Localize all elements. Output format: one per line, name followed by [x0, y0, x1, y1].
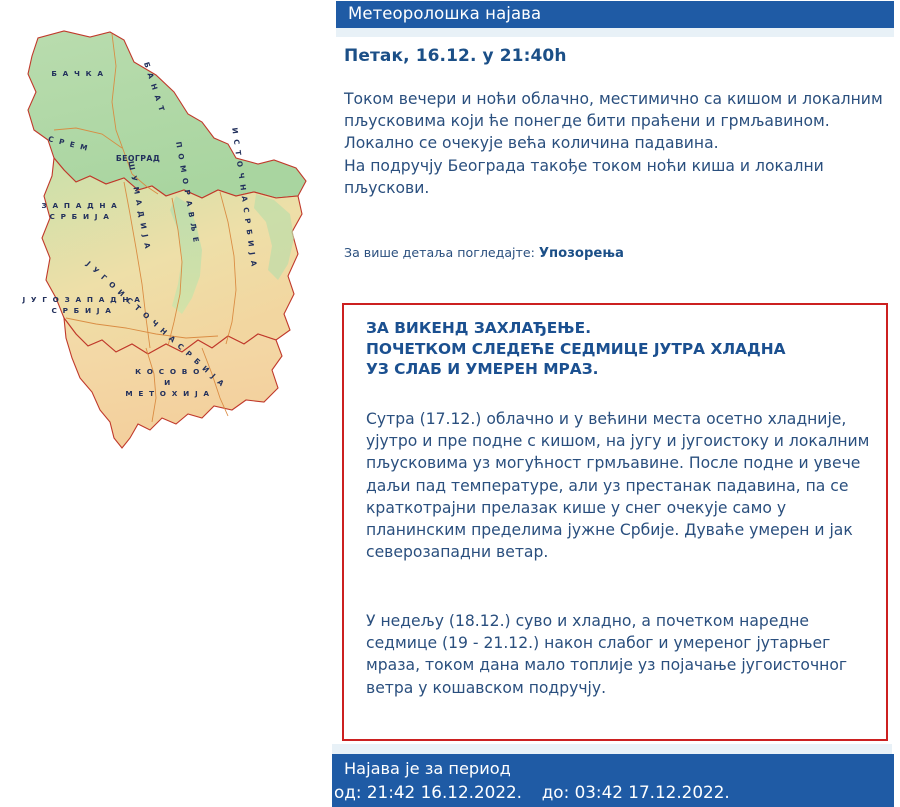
- serbia-region-map-panel: Б А Ч К А Б А Н А Т С Р Е М БЕОГРАД З А …: [0, 0, 330, 807]
- weather-announcement-page: Б А Ч К А Б А Н А Т С Р Е М БЕОГРАД З А …: [0, 0, 900, 807]
- valid-from-label: од:: [334, 782, 362, 802]
- map-label-kosovo-3: М Е Т О Х И Ј А: [125, 389, 210, 398]
- map-label-backa: Б А Ч К А: [51, 69, 104, 78]
- map-label-beograd: БЕОГРАД: [116, 154, 160, 163]
- valid-from-date: 16.12.2022.: [421, 782, 522, 802]
- valid-to-time: 03:42: [575, 782, 623, 802]
- warning-paragraph-2: У недељу (18.12.) суво и хладно, а почет…: [366, 610, 871, 699]
- warnings-link[interactable]: Упозорења: [539, 246, 624, 261]
- weekend-warning-box: ЗА ВИКЕНД ЗАХЛАЂЕЊЕ. ПОЧЕТКОМ СЛЕДЕЋЕ СЕ…: [342, 303, 888, 741]
- announcement-datetime: Петак, 16.12. у 21:40h: [344, 46, 884, 66]
- map-label-kosovo-1: К О С О В О: [135, 367, 201, 376]
- footer-gap: [332, 744, 892, 754]
- valid-to-date: 17.12.2022.: [628, 782, 729, 802]
- validity-period-label: Најава је за период: [334, 758, 894, 780]
- more-details-line: За више детаља погледајте: Упозорења: [344, 245, 884, 261]
- more-details-prefix: За више детаља погледајте:: [344, 245, 535, 260]
- warning-paragraph-1: Сутра (17.12.) облачно и у већини места …: [366, 408, 871, 563]
- announcement-header-bar: Метеоролошка најава: [336, 1, 894, 28]
- map-region-vojvodina: [28, 31, 306, 198]
- announcement-content-panel: Метеоролошка најава Петак, 16.12. у 21:4…: [331, 0, 900, 807]
- map-label-zapadna-srbija-2: С Р Б И Ј А: [49, 212, 110, 221]
- valid-to-label: до:: [542, 782, 570, 802]
- map-label-kosovo-2: И: [164, 378, 172, 387]
- page-title: Метеоролошка најава: [348, 6, 541, 23]
- valid-from-time: 21:42: [367, 782, 415, 802]
- map-label-jugozapadna-srbija-2: С Р Б И Ј А: [51, 306, 112, 315]
- body-paragraph-1: Током вечери и ноћи облачно, местимично …: [344, 88, 894, 155]
- warning-heading: ЗА ВИКЕНД ЗАХЛАЂЕЊЕ. ПОЧЕТКОМ СЛЕДЕЋЕ СЕ…: [366, 318, 866, 380]
- serbia-map: Б А Ч К А Б А Н А Т С Р Е М БЕОГРАД З А …: [6, 18, 326, 468]
- validity-period-footer: Најава је за период од: 21:42 16.12.2022…: [332, 754, 894, 807]
- map-label-zapadna-srbija-1: З А П А Д Н А: [42, 201, 119, 210]
- header-underline: [336, 28, 894, 37]
- validity-period-range: од: 21:42 16.12.2022. до: 03:42 17.12.20…: [334, 780, 894, 804]
- announcement-body: Током вечери и ноћи облачно, местимично …: [344, 88, 894, 199]
- serbia-map-svg: Б А Ч К А Б А Н А Т С Р Е М БЕОГРАД З А …: [6, 18, 326, 468]
- body-paragraph-2: На подручју Београда такође током ноћи к…: [344, 155, 894, 199]
